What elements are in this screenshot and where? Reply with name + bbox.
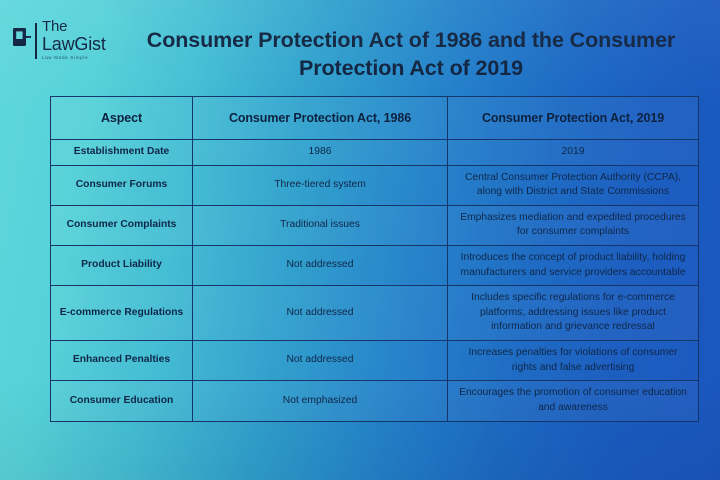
header: The LawGist Law Made Simple Consumer Pro… (0, 0, 720, 92)
table-body: Establishment Date 1986 2019 Consumer Fo… (51, 140, 699, 422)
table-row: Establishment Date 1986 2019 (51, 140, 699, 166)
cell-act-2019: Increases penalties for violations of co… (448, 341, 699, 381)
cell-act-1986: Not emphasized (193, 381, 448, 421)
book-mark-icon (12, 26, 32, 50)
brand-line-the: The (42, 19, 106, 34)
brand-wordmark: The LawGist Law Made Simple (42, 19, 106, 61)
cell-act-2019: Emphasizes mediation and expedited proce… (448, 205, 699, 245)
comparison-table: Aspect Consumer Protection Act, 1986 Con… (50, 96, 699, 422)
cell-act-1986: Not addressed (193, 341, 448, 381)
comparison-table-wrapper: Aspect Consumer Protection Act, 1986 Con… (50, 96, 698, 422)
cell-act-2019: Introduces the concept of product liabil… (448, 246, 699, 286)
cell-act-2019: Central Consumer Protection Authority (C… (448, 165, 699, 205)
cell-act-2019: 2019 (448, 140, 699, 166)
cell-act-1986: 1986 (193, 140, 448, 166)
table-header-row: Aspect Consumer Protection Act, 1986 Con… (51, 97, 699, 140)
table-row: E-commerce Regulations Not addressed Inc… (51, 286, 699, 341)
cell-act-1986: Traditional issues (193, 205, 448, 245)
brand-logo: The LawGist Law Made Simple (12, 19, 120, 71)
brand-divider (35, 23, 37, 59)
cell-aspect: Consumer Forums (51, 165, 193, 205)
cell-act-2019: Encourages the promotion of consumer edu… (448, 381, 699, 421)
cell-act-1986: Not addressed (193, 286, 448, 341)
column-header-act-1986: Consumer Protection Act, 1986 (193, 97, 448, 140)
table-row: Consumer Education Not emphasized Encour… (51, 381, 699, 421)
brand-tagline: Law Made Simple (42, 56, 106, 61)
cell-act-1986: Three-tiered system (193, 165, 448, 205)
table-row: Enhanced Penalties Not addressed Increas… (51, 341, 699, 381)
cell-aspect: Consumer Education (51, 381, 193, 421)
cell-act-2019: Includes specific regulations for e-comm… (448, 286, 699, 341)
cell-aspect: Consumer Complaints (51, 205, 193, 245)
cell-aspect: Product Liability (51, 246, 193, 286)
column-header-act-2019: Consumer Protection Act, 2019 (448, 97, 699, 140)
column-header-aspect: Aspect (51, 97, 193, 140)
infographic-canvas: The LawGist Law Made Simple Consumer Pro… (0, 0, 720, 480)
table-row: Consumer Complaints Traditional issues E… (51, 205, 699, 245)
cell-aspect: E-commerce Regulations (51, 286, 193, 341)
page-title: Consumer Protection Act of 1986 and the … (118, 26, 704, 83)
table-row: Product Liability Not addressed Introduc… (51, 246, 699, 286)
cell-aspect: Enhanced Penalties (51, 341, 193, 381)
table-header: Aspect Consumer Protection Act, 1986 Con… (51, 97, 699, 140)
cell-act-1986: Not addressed (193, 246, 448, 286)
cell-aspect: Establishment Date (51, 140, 193, 166)
table-row: Consumer Forums Three-tiered system Cent… (51, 165, 699, 205)
brand-line-lawgist: LawGist (42, 35, 106, 53)
